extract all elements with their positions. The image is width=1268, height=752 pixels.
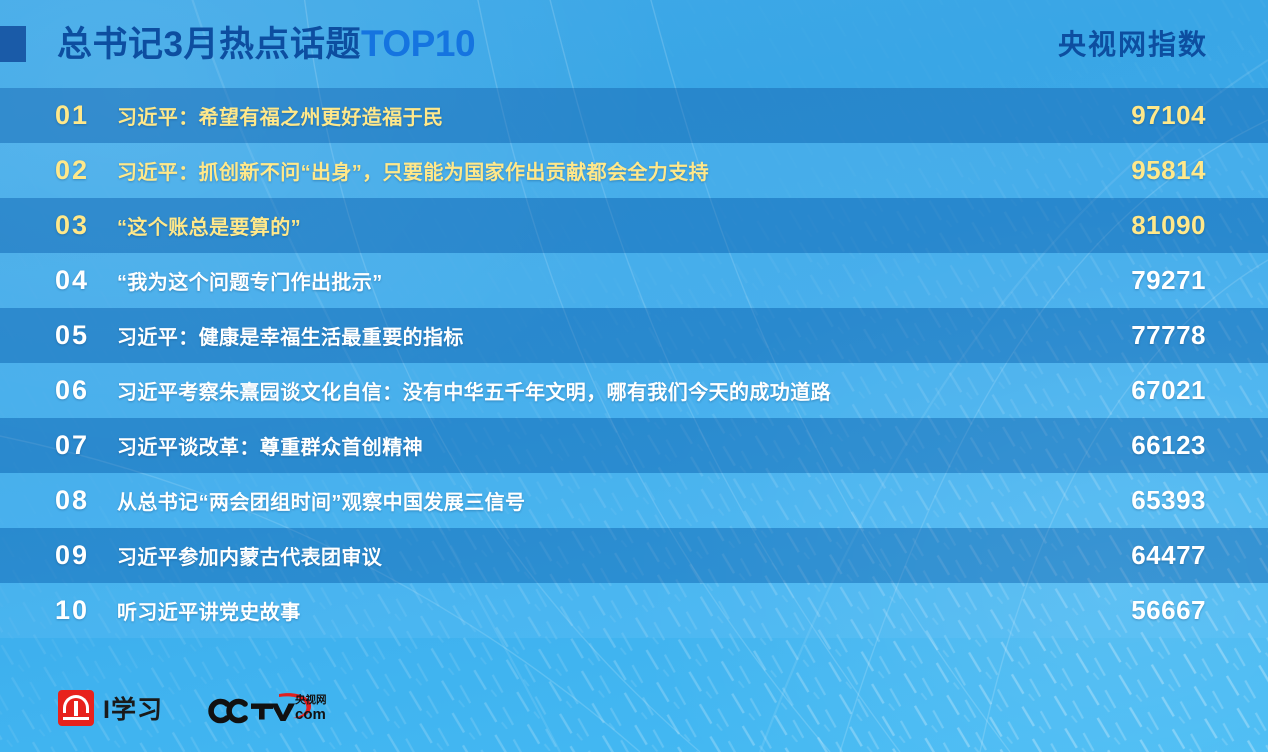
xuexi-logo-label: I学习 (103, 690, 163, 726)
row-rank: 02 (55, 155, 117, 186)
table-row[interactable]: 10 听习近平讲党史故事 56667 (0, 583, 1268, 638)
row-score: 95814 (1026, 155, 1268, 186)
row-rank: 07 (55, 430, 117, 461)
table-row[interactable]: 01 习近平：希望有福之州更好造福于民 97104 (0, 88, 1268, 143)
infographic-poster: 总书记3月热点话题TOP10 央视网指数 01 习近平：希望有福之州更好造福于民… (0, 0, 1268, 752)
header-accent-block (0, 26, 26, 62)
row-rank: 01 (55, 100, 117, 131)
table-row[interactable]: 04 “我为这个问题专门作出批示” 79271 (0, 253, 1268, 308)
row-score: 77778 (1026, 320, 1268, 351)
table-row[interactable]: 06 习近平考察朱熹园谈文化自信：没有中华五千年文明，哪有我们今天的成功道路 6… (0, 363, 1268, 418)
table-row[interactable]: 08 从总书记“两会团组时间”观察中国发展三信号 65393 (0, 473, 1268, 528)
row-score: 65393 (1026, 485, 1268, 516)
table-row[interactable]: 05 习近平：健康是幸福生活最重要的指标 77778 (0, 308, 1268, 363)
row-rank: 06 (55, 375, 117, 406)
row-score: 67021 (1026, 375, 1268, 406)
row-title: 习近平：抓创新不问“出身”，只要能为国家作出贡献都会全力支持 (117, 156, 1026, 185)
row-rank: 09 (55, 540, 117, 571)
cctv-logo-icon: 央视网 com (207, 688, 331, 728)
row-score: 79271 (1026, 265, 1268, 296)
poster-header: 总书记3月热点话题TOP10 央视网指数 (0, 0, 1268, 88)
table-row[interactable]: 03 “这个账总是要算的” 81090 (0, 198, 1268, 253)
row-score: 66123 (1026, 430, 1268, 461)
page-title-main: 总书记3月热点话题 (57, 25, 361, 64)
ranking-table: 01 习近平：希望有福之州更好造福于民 97104 02 习近平：抓创新不问“出… (0, 88, 1268, 638)
row-score: 97104 (1026, 100, 1268, 131)
row-title: “这个账总是要算的” (117, 211, 1026, 240)
row-title: 习近平考察朱熹园谈文化自信：没有中华五千年文明，哪有我们今天的成功道路 (117, 376, 1026, 405)
row-score: 56667 (1026, 595, 1268, 626)
xuexi-emblem-icon (58, 690, 94, 726)
page-title-accent: TOP10 (361, 23, 475, 64)
row-rank: 10 (55, 595, 117, 626)
table-row[interactable]: 02 习近平：抓创新不问“出身”，只要能为国家作出贡献都会全力支持 95814 (0, 143, 1268, 198)
cctv-cn-label: 央视网 (295, 693, 327, 706)
table-row[interactable]: 09 习近平参加内蒙古代表团审议 64477 (0, 528, 1268, 583)
row-title: 习近平参加内蒙古代表团审议 (117, 541, 1026, 570)
row-rank: 05 (55, 320, 117, 351)
row-title: 习近平：希望有福之州更好造福于民 (117, 101, 1026, 130)
table-row[interactable]: 07 习近平谈改革：尊重群众首创精神 66123 (0, 418, 1268, 473)
row-title: “我为这个问题专门作出批示” (117, 266, 1026, 295)
row-rank: 03 (55, 210, 117, 241)
cctv-com-label: com (295, 706, 326, 723)
row-title: 从总书记“两会团组时间”观察中国发展三信号 (117, 486, 1026, 515)
xuexi-logo[interactable]: I学习 (58, 690, 163, 726)
row-rank: 04 (55, 265, 117, 296)
row-score: 81090 (1026, 210, 1268, 241)
row-title: 听习近平讲党史故事 (117, 596, 1026, 625)
cctv-logo[interactable]: 央视网 com (207, 688, 331, 728)
row-score: 64477 (1026, 540, 1268, 571)
xuexi-stem-shape (74, 701, 78, 716)
row-rank: 08 (55, 485, 117, 516)
row-title: 习近平谈改革：尊重群众首创精神 (117, 431, 1026, 460)
page-title: 总书记3月热点话题TOP10 (57, 19, 475, 70)
metric-column-header: 央视网指数 (1058, 23, 1208, 63)
footer-brands: I学习 央视网 com (58, 688, 331, 728)
row-title: 习近平：健康是幸福生活最重要的指标 (117, 321, 1026, 350)
xuexi-base-shape (63, 717, 89, 720)
